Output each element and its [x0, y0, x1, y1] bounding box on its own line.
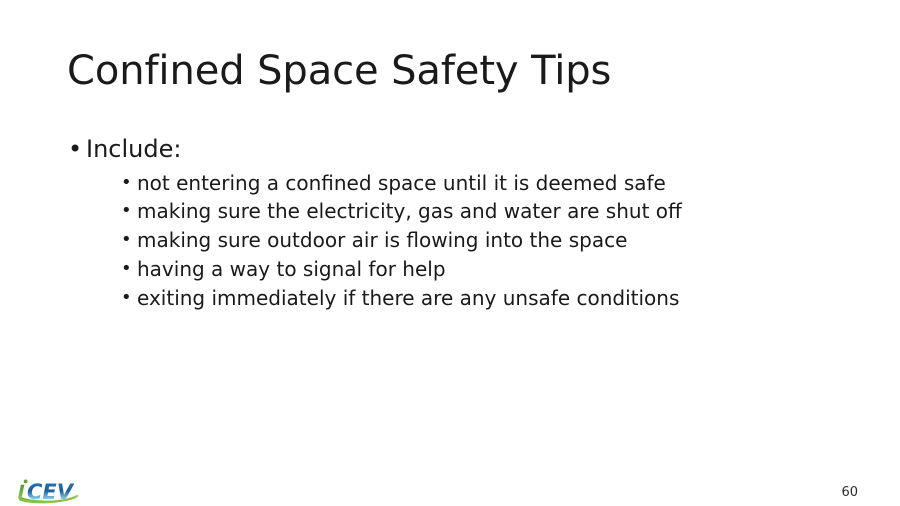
list-item-label: Include:	[86, 135, 181, 163]
bullet-point-icon: •	[68, 134, 82, 166]
list-item-label: having a way to signal for help	[137, 257, 446, 281]
sub-bullet-point-icon: •	[121, 169, 132, 198]
list-item-label: exiting immediately if there are any uns…	[137, 286, 679, 310]
list-item: • exiting immediately if there are any u…	[121, 284, 854, 313]
list-item: • having a way to signal for help	[121, 255, 854, 284]
slide-canvas: Confined Space Safety Tips • Include: • …	[0, 0, 900, 506]
sub-bullet-point-icon: •	[121, 197, 132, 226]
logo-letter-i	[18, 485, 24, 499]
sub-bullet-point-icon: •	[121, 255, 132, 284]
list-item: • making sure the electricity, gas and w…	[121, 197, 854, 226]
list-item: • not entering a confined space until it…	[121, 169, 854, 198]
icev-logo: CEV	[18, 478, 104, 504]
sub-bullet-point-icon: •	[121, 284, 132, 313]
list-item: • making sure outdoor air is flowing int…	[121, 226, 854, 255]
content-body: • Include: • not entering a confined spa…	[64, 134, 854, 317]
list-item-label: making sure the electricity, gas and wat…	[137, 199, 682, 223]
list-item-label: making sure outdoor air is flowing into …	[137, 228, 627, 252]
list-item-include: • Include: • not entering a confined spa…	[64, 134, 854, 313]
list-item-label: not entering a confined space until it i…	[137, 171, 666, 195]
bullet-list-level2: • not entering a confined space until it…	[86, 169, 854, 313]
logo-letters-cev: CEV	[27, 480, 75, 504]
page-title: Confined Space Safety Tips	[67, 48, 611, 94]
bullet-list-level1: • Include: • not entering a confined spa…	[64, 134, 854, 313]
sub-bullet-point-icon: •	[121, 226, 132, 255]
page-number: 60	[841, 485, 858, 500]
